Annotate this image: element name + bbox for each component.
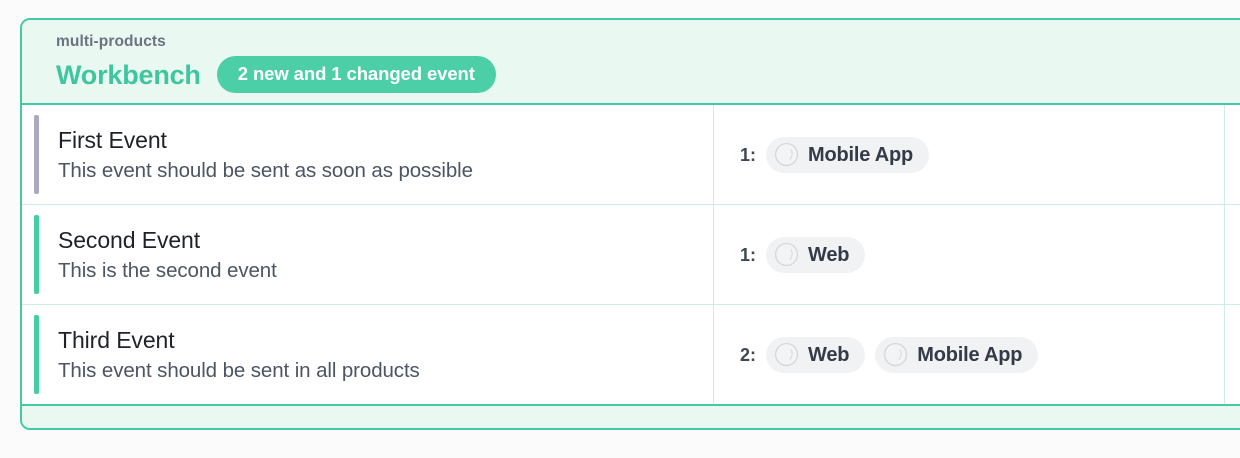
product-chip-group: Web Mobile App [766,337,1038,373]
product-circle-icon [774,342,799,367]
card-header: multi-products Workbench 2 new and 1 cha… [22,20,1240,105]
card-footer [22,404,1240,428]
product-circle-icon [883,342,908,367]
event-table: First Event This event should be sent as… [22,105,1240,404]
event-cell: Second Event This is the second event [22,205,714,304]
status-accent-bar [34,315,39,394]
product-chip-label: Web [808,342,849,368]
product-count: 2: [740,344,756,366]
product-chip[interactable]: Web [766,237,865,273]
event-title: Second Event [58,225,693,255]
product-chip-label: Mobile App [808,142,913,168]
product-chip-label: Mobile App [917,342,1022,368]
products-cell: 1: Mobile App [714,105,1225,204]
status-accent-bar [34,215,39,294]
event-title: First Event [58,125,693,155]
event-description: This event should be sent as soon as pos… [58,157,693,185]
status-badge: 2 new and 1 changed event [217,56,496,93]
extra-cell [1225,205,1240,304]
product-count: 1: [740,244,756,266]
table-row-2[interactable]: Second Event This is the second event 1:… [22,205,1240,305]
event-description: This is the second event [58,257,693,285]
product-chip-group: Mobile App [766,137,929,173]
product-count: 1: [740,144,756,166]
page-title: Workbench [56,59,201,91]
table-row-3[interactable]: Third Event This event should be sent in… [22,305,1240,404]
product-chip[interactable]: Web [766,337,865,373]
title-row: Workbench 2 new and 1 changed event [56,56,1240,93]
product-chip[interactable]: Mobile App [875,337,1038,373]
extra-cell [1225,305,1240,404]
status-accent-bar [34,115,39,194]
product-chip[interactable]: Mobile App [766,137,929,173]
event-title: Third Event [58,325,693,355]
product-circle-icon [774,242,799,267]
product-chip-label: Web [808,242,849,268]
extra-cell [1225,105,1240,204]
products-cell: 1: Web [714,205,1225,304]
product-chip-group: Web [766,237,865,273]
event-description: This event should be sent in all product… [58,357,693,385]
workbench-card: multi-products Workbench 2 new and 1 cha… [20,18,1240,430]
breadcrumb: multi-products [56,32,1240,52]
product-circle-icon [774,142,799,167]
event-cell: Third Event This event should be sent in… [22,305,714,404]
event-cell: First Event This event should be sent as… [22,105,714,204]
products-cell: 2: Web Mobile App [714,305,1225,404]
table-row-1[interactable]: First Event This event should be sent as… [22,105,1240,205]
